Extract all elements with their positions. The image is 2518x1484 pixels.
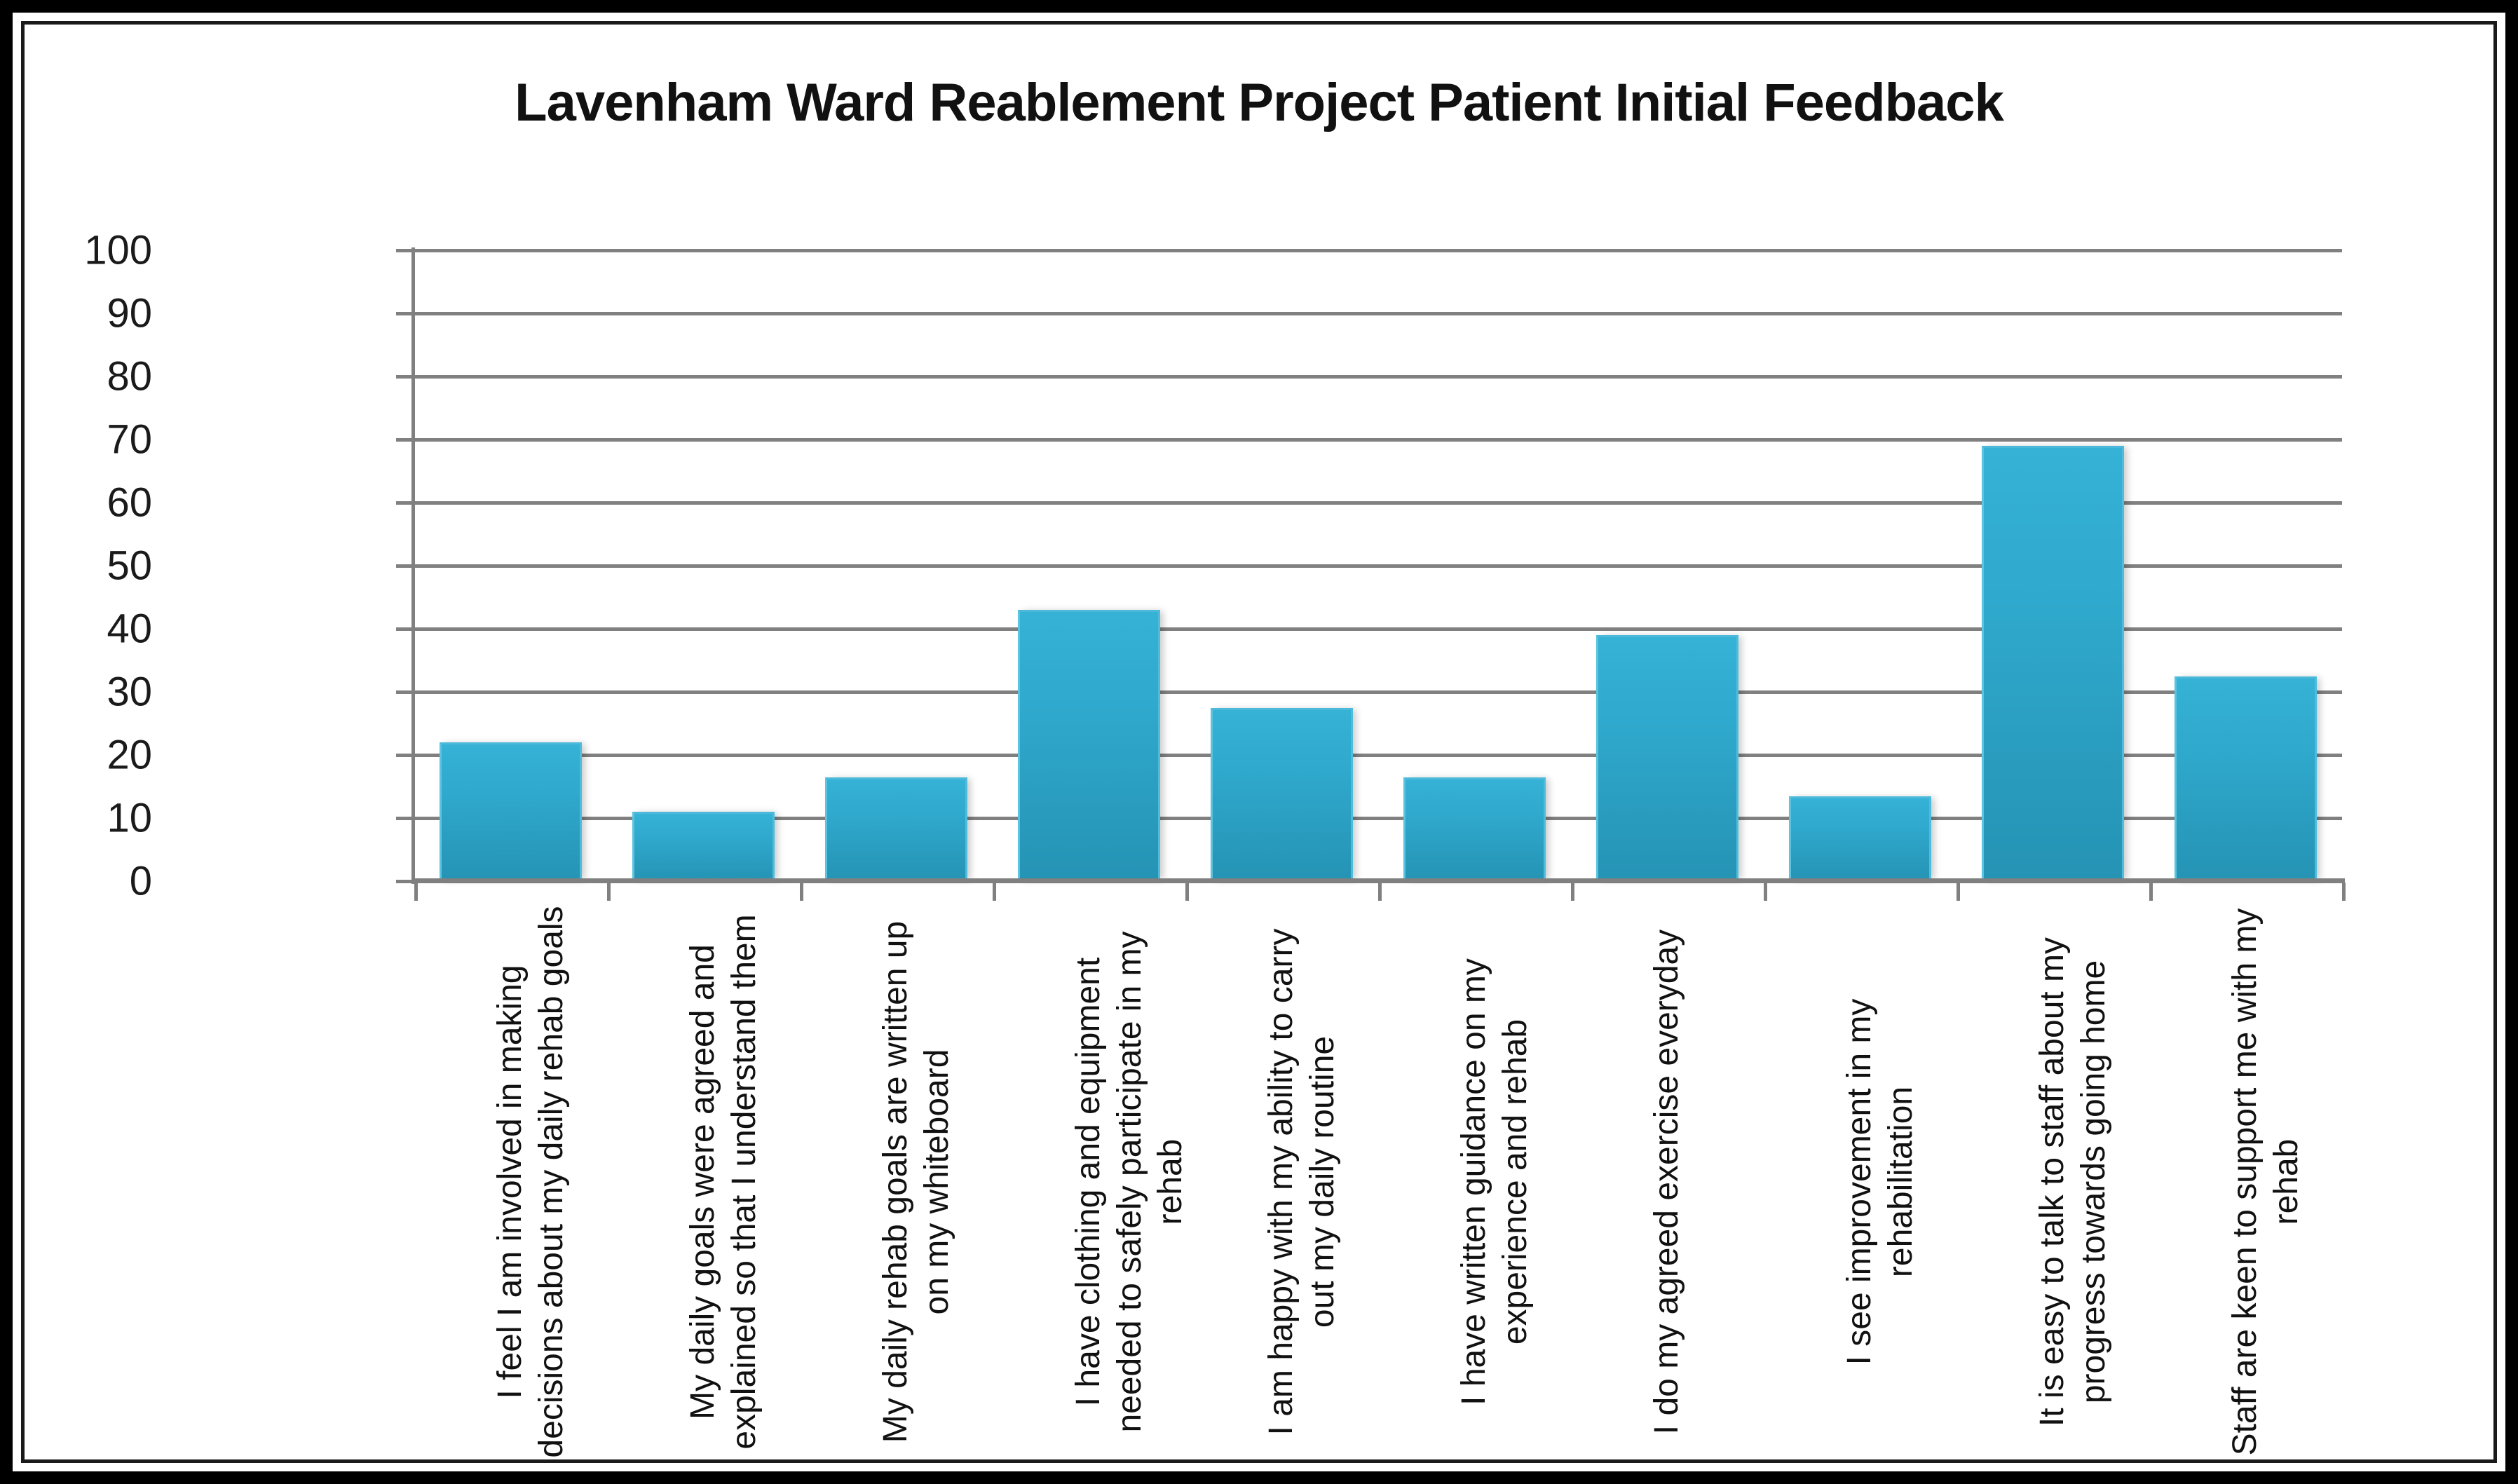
bar-slot (993, 250, 1185, 881)
x-axis-category-label: I see improvement in my rehabilitation (1839, 905, 1921, 1459)
x-axis-tick (1185, 883, 1189, 901)
bar[interactable] (1789, 796, 1932, 882)
y-axis-tick (396, 438, 414, 442)
x-axis-category-label: Staff are keen to support me with my reh… (2225, 905, 2307, 1459)
y-axis-tick-label: 80 (12, 353, 152, 400)
bar[interactable] (440, 742, 583, 881)
bar-slot (1956, 250, 2149, 881)
x-axis-label-slot: I do my agreed exercise everyday (1571, 905, 1764, 1480)
x-axis-tick (607, 883, 611, 901)
x-axis-label-slot: My daily goals were agreed and explained… (607, 905, 800, 1480)
y-axis-tick-label: 20 (12, 732, 152, 779)
chart-canvas: Lavenham Ward Reablement Project Patient… (21, 21, 2497, 1463)
bar-series (414, 250, 2342, 881)
x-axis-category-label: I feel I am involved in making decisions… (490, 905, 572, 1459)
y-axis-tick-label: 10 (12, 795, 152, 842)
y-axis-tick (396, 627, 414, 631)
x-axis-category-label: It is easy to talk to staff about my pro… (2032, 905, 2114, 1459)
x-axis-tick (1571, 883, 1574, 901)
bar[interactable] (632, 812, 775, 881)
x-axis-label-slot: I have clothing and equipment needed to … (993, 905, 1185, 1480)
bar-slot (607, 250, 800, 881)
y-axis-tick (396, 501, 414, 505)
bar[interactable] (1982, 446, 2125, 881)
x-axis-category-label: I have written guidance on my experience… (1454, 905, 1536, 1459)
x-axis-category-labels: I feel I am involved in making decisions… (414, 905, 2342, 1480)
y-axis-tick-label: 50 (12, 543, 152, 590)
x-axis-category-label: I am happy with my ability to carry out … (1261, 905, 1343, 1459)
y-axis-tick-label: 0 (12, 858, 152, 905)
y-axis-tick (396, 312, 414, 315)
x-axis-label-slot: I see improvement in my rehabilitation (1764, 905, 1956, 1480)
chart-frame: Lavenham Ward Reablement Project Patient… (0, 0, 2518, 1484)
y-axis-tick-label: 70 (12, 416, 152, 463)
chart-title: Lavenham Ward Reablement Project Patient… (25, 72, 2493, 133)
bar-slot (2149, 250, 2342, 881)
bar[interactable] (825, 777, 968, 882)
bar[interactable] (1018, 610, 1161, 881)
x-axis-category-label: My daily goals were agreed and explained… (683, 905, 765, 1459)
bar[interactable] (2175, 676, 2318, 882)
x-axis-tick (993, 883, 996, 901)
x-axis-label-slot: It is easy to talk to staff about my pro… (1956, 905, 2149, 1480)
y-axis-tick (396, 249, 414, 252)
bar-slot (1378, 250, 1571, 881)
y-axis-tick (396, 564, 414, 568)
x-axis-label-slot: I am happy with my ability to carry out … (1185, 905, 1378, 1480)
y-axis-tick-label: 30 (12, 669, 152, 716)
y-axis-tick-label: 90 (12, 290, 152, 337)
x-axis-tick (1764, 883, 1767, 901)
y-axis-tick-label: 100 (12, 227, 152, 274)
x-axis-label-slot: Staff are keen to support me with my reh… (2149, 905, 2342, 1480)
x-axis-tick (800, 883, 803, 901)
bar-slot (1185, 250, 1378, 881)
x-axis-label-slot: I feel I am involved in making decisions… (414, 905, 607, 1480)
y-axis-tick-label: 40 (12, 606, 152, 653)
x-axis-tick (414, 883, 418, 901)
bar[interactable] (1596, 635, 1739, 881)
bar-slot (1764, 250, 1956, 881)
y-axis-tick-label: 60 (12, 479, 152, 526)
x-axis-tick (2149, 883, 2153, 901)
x-axis-tick (1956, 883, 1960, 901)
bar-slot (414, 250, 607, 881)
y-axis-tick (396, 817, 414, 820)
chart-inner-border: Lavenham Ward Reablement Project Patient… (13, 13, 2505, 1471)
x-axis-label-slot: My daily rehab goals are written up on m… (800, 905, 993, 1480)
bar[interactable] (1403, 777, 1546, 882)
bar-slot (800, 250, 993, 881)
y-axis-tick (396, 690, 414, 694)
x-axis-label-slot: I have written guidance on my experience… (1378, 905, 1571, 1480)
bar[interactable] (1211, 708, 1354, 882)
y-axis-tick (396, 375, 414, 379)
bar-slot (1571, 250, 1764, 881)
plot-region (414, 250, 2342, 881)
y-axis-tick (396, 754, 414, 757)
x-axis-category-label: My daily rehab goals are written up on m… (876, 905, 958, 1459)
x-axis-tick (1378, 883, 1382, 901)
x-axis-category-label: I do my agreed exercise everyday (1647, 905, 1688, 1459)
x-axis-tick (2342, 883, 2346, 901)
x-axis-category-label: I have clothing and equipment needed to … (1068, 905, 1192, 1459)
